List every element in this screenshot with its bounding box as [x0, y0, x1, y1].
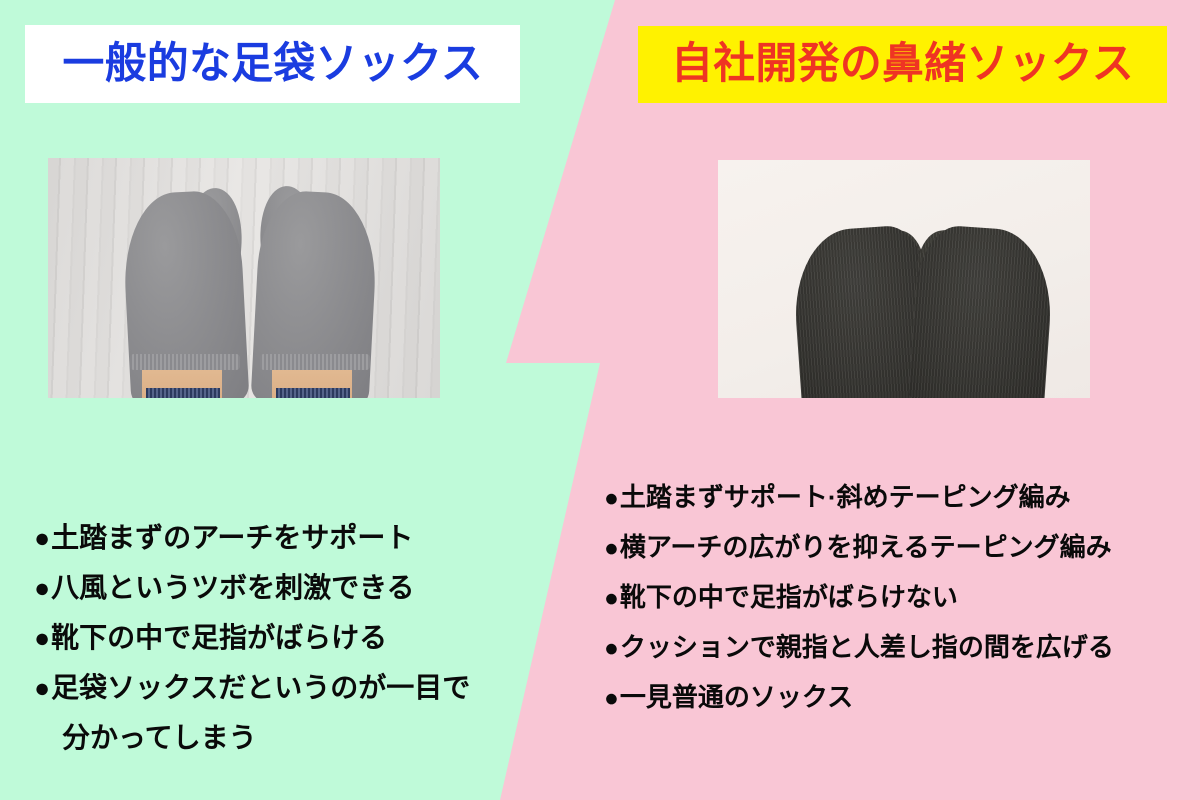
right-list-item-text: 横アーチの広がりを抑えるテーピング編み	[620, 532, 1112, 562]
grey-sock-right	[256, 192, 374, 398]
bullet-marker-icon: ●	[34, 623, 50, 653]
left-list-item-text: 靴下の中で足指がばらける	[51, 613, 387, 662]
bullet-marker-icon: ●	[34, 523, 50, 553]
left-list-item: ●靴下の中で足指がばらける	[34, 613, 504, 663]
right-list-item: ●靴下の中で足指がばらけない	[604, 573, 1184, 623]
left-feature-list: ●土踏まずのアーチをサポート ●八風というツボを刺激できる ●靴下の中で足指がば…	[34, 513, 504, 762]
right-list-item-text: 土踏まずサポート·斜めテーピング編み	[620, 482, 1071, 512]
right-feature-list: ●土踏まずサポート·斜めテーピング編み ●横アーチの広がりを抑えるテーピング編み…	[604, 473, 1184, 723]
left-list-item: ●土踏まずのアーチをサポート	[34, 513, 504, 563]
black-sock-right-body	[908, 223, 1056, 398]
comparison-slide: 一般的な足袋ソックス 自社開発の鼻緒ソックス	[0, 0, 1200, 800]
left-list-item-text: 土踏まずのアーチをサポート	[51, 522, 413, 553]
left-photo-grey-tabi-socks	[48, 158, 440, 398]
right-list-item: ●横アーチの広がりを抑えるテーピング編み	[604, 523, 1184, 573]
right-list-item: ●一見普通のソックス	[604, 673, 1184, 723]
left-list-item-continuation-text: 分かってしまう	[62, 713, 257, 762]
left-list-item-text: 足袋ソックスだというのが一目で	[51, 663, 470, 712]
bullet-marker-icon: ●	[604, 585, 619, 612]
right-photo-black-hanao-socks	[718, 160, 1090, 398]
left-title-plate: 一般的な足袋ソックス	[25, 25, 520, 103]
grey-sock-right-jeans-hem	[276, 388, 350, 398]
grey-sock-right-cuff	[260, 354, 370, 370]
bullet-marker-icon: ●	[34, 673, 50, 703]
grey-sock-left-cuff	[130, 354, 240, 370]
bullet-marker-icon: ●	[604, 635, 619, 662]
left-list-item: ●足袋ソックスだというのが一目で	[34, 663, 504, 713]
bullet-marker-icon: ●	[604, 535, 619, 562]
right-title-text: 自社開発の鼻緒ソックス	[671, 43, 1134, 86]
black-sock-right	[914, 228, 1050, 398]
right-list-item: ●土踏まずサポート·斜めテーピング編み	[604, 473, 1184, 523]
right-list-item-text: クッションで親指と人差し指の間を広げる	[620, 632, 1114, 662]
grey-sock-left	[126, 192, 244, 398]
bullet-marker-icon: ●	[604, 685, 619, 712]
bullet-marker-icon: ●	[34, 573, 50, 603]
left-list-item: ●八風というツボを刺激できる	[34, 563, 504, 613]
bullet-marker-icon: ●	[604, 485, 619, 512]
right-list-item-text: 靴下の中で足指がばらけない	[620, 573, 958, 621]
right-list-item-text: 一見普通のソックス	[620, 673, 853, 721]
black-sock-right-rib-texture	[908, 223, 1056, 398]
grey-sock-left-jeans-hem	[146, 388, 220, 398]
left-list-item-text: 八風というツボを刺激できる	[51, 572, 414, 603]
right-title-plate: 自社開発の鼻緒ソックス	[638, 26, 1167, 103]
right-list-item: ●クッションで親指と人差し指の間を広げる	[604, 623, 1184, 673]
left-list-item-continuation: 分かってしまう	[34, 713, 504, 762]
left-title-text: 一般的な足袋ソックス	[62, 43, 483, 86]
